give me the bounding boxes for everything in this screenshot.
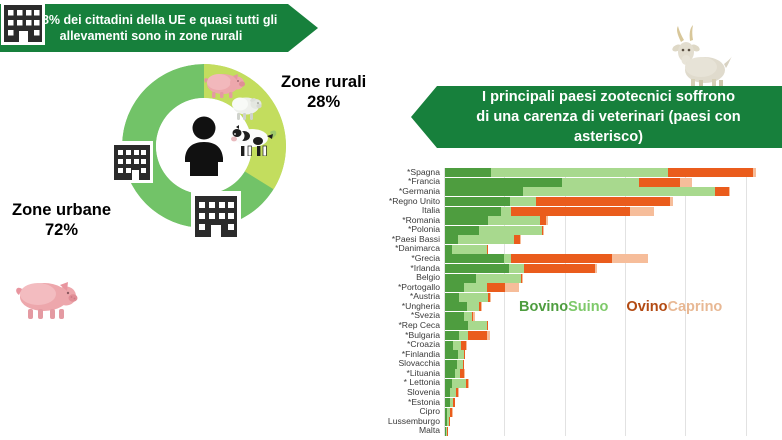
bar-segment-ovino[interactable] [511,207,629,216]
bar-segment-ovino[interactable] [449,417,450,426]
bar-segment-ovino[interactable] [487,245,488,254]
bar-segment-suino[interactable] [450,388,457,397]
rural-label: Zone rurali 28% [281,72,366,112]
pig-icon [14,276,80,320]
bar-segment-ovino[interactable] [668,168,753,177]
bar-segment-ovino[interactable] [639,178,680,187]
bar-segment-bovino[interactable] [445,274,476,283]
category-label: Italia [422,206,440,215]
bar-segment-suino[interactable] [464,283,488,292]
category-label: *Germania [399,187,440,196]
bar-segment-ovino[interactable] [487,321,488,330]
bar-segment-ovino[interactable] [453,398,455,407]
left-banner-line2: allevamenti sono in zone rurali [25,28,278,44]
bar-segment-suino[interactable] [491,168,668,177]
bar-segment-suino[interactable] [453,341,460,350]
bar-segment-suino[interactable] [459,293,488,302]
right-banner-line3: asterisco) [476,127,740,147]
right-banner-line2: di una carenza di veterinari (paesi con [476,107,740,127]
bar-segment-bovino[interactable] [445,331,459,340]
urban-label-value: 72% [12,220,111,240]
bar-segment-bovino[interactable] [445,245,452,254]
bar-segment-suino[interactable] [479,226,542,235]
bar-segment-suino[interactable] [523,187,716,196]
bar-segment-ovino[interactable] [524,264,595,273]
bar-segment-caprino[interactable] [487,331,490,340]
bar-segment-caprino[interactable] [490,293,491,302]
bar-segment-bovino[interactable] [445,379,452,388]
bar-segment-caprino[interactable] [458,388,459,397]
bar-segment-suino[interactable] [464,312,472,321]
bar-segment-suino[interactable] [467,302,479,311]
bar-segment-bovino[interactable] [445,168,491,177]
category-labels-column: *Spagna*Francia*Germania*Regno UnitoItal… [356,168,440,436]
bar-segment-bovino[interactable] [445,341,453,350]
bar-segment-caprino[interactable] [464,369,465,378]
building-icon [190,190,242,242]
bar-segment-bovino[interactable] [445,197,510,206]
bar-segment-suino[interactable] [504,254,511,263]
bar-segment-suino[interactable] [562,178,639,187]
legend-item-bovino: Bovino [519,299,568,315]
bar-segment-ovino[interactable] [511,254,611,263]
bar-segment-caprino[interactable] [753,168,756,177]
legend-item-caprino: Caprino [668,299,723,315]
bar-segment-bovino[interactable] [445,360,457,369]
category-label: *Polonia [408,225,440,234]
bar-segment-suino[interactable] [458,235,514,244]
category-label: Cipro [419,407,440,416]
chart-legend: BovinoSuinoOvinoCaprino [519,299,722,315]
urban-label-text: Zone urbane [12,200,111,220]
category-label: Slovenia [407,388,440,397]
bar-segment-bovino[interactable] [445,350,458,359]
bar-segment-suino[interactable] [510,197,536,206]
legend-item-ovino: Ovino [626,299,667,315]
category-label: Belgio [416,273,440,282]
cow-icon [230,124,278,156]
bar-segment-suino[interactable] [452,379,466,388]
sheep-icon [228,94,264,120]
gridline [746,168,747,436]
bar-segment-bovino[interactable] [445,235,458,244]
bar-segment-suino[interactable] [459,331,467,340]
bar-segment-caprino[interactable] [452,408,453,417]
bar-segment-caprino[interactable] [473,312,474,321]
right-banner: I principali paesi zootecnici soffrono d… [411,86,782,148]
bar-segment-bovino[interactable] [445,321,468,330]
bar-segment-suino[interactable] [501,207,512,216]
bar-segment-suino[interactable] [488,216,540,225]
category-label: *Francia [408,177,440,186]
bar-segment-bovino[interactable] [445,187,523,196]
bar-segment-suino[interactable] [468,321,487,330]
category-label: *Rep Ceca [398,321,440,330]
bar-segment-suino[interactable] [476,274,521,283]
bar-segment-bovino[interactable] [445,264,509,273]
bar-segment-ovino[interactable] [468,331,487,340]
bar-segment-ovino[interactable] [715,187,728,196]
bar-segment-ovino[interactable] [487,283,505,292]
bar-segment-caprino[interactable] [543,226,544,235]
left-banner: Il 28% dei cittadini della UE e quasi tu… [0,4,318,52]
bar-segment-suino[interactable] [452,245,487,254]
bar-segment-caprino[interactable] [522,274,523,283]
bar-segment-suino[interactable] [509,264,524,273]
bar-segment-caprino[interactable] [520,235,521,244]
category-label: *Austria [410,292,440,301]
bar-segment-bovino[interactable] [445,254,504,263]
category-label: Slovacchia [398,359,440,368]
bar-segment-bovino[interactable] [445,293,459,302]
category-label: *Danimarca [395,244,440,253]
category-label: *Croazia [407,340,440,349]
category-label: *Grecia [411,254,440,263]
rural-label-text: Zone rurali [281,72,366,92]
bar-segment-caprino[interactable] [466,341,467,350]
bar-segment-caprino[interactable] [630,207,654,216]
bar-segment-ovino[interactable] [447,427,448,436]
bar-segment-caprino[interactable] [546,216,547,225]
bar-segment-bovino[interactable] [445,207,501,216]
bar-segment-bovino[interactable] [445,216,488,225]
building-icon [110,140,154,184]
bar-segment-caprino[interactable] [729,187,730,196]
bar-segment-caprino[interactable] [505,283,518,292]
bar-segment-caprino[interactable] [612,254,649,263]
bar-segment-ovino[interactable] [464,350,465,359]
bar-segment-bovino[interactable] [445,178,562,187]
bar-segment-bovino[interactable] [445,369,455,378]
bar-segment-ovino[interactable] [536,197,670,206]
building-icon [0,0,46,51]
right-banner-line1: I principali paesi zootecnici soffrono [476,87,740,107]
person-icon [181,116,227,176]
bar-segment-caprino[interactable] [670,197,672,206]
bar-segment-bovino[interactable] [445,302,467,311]
left-banner-line1: Il 28% dei cittadini della UE e quasi tu… [25,12,278,28]
urban-label: Zone urbane 72% [12,200,111,240]
bar-segment-caprino[interactable] [595,264,596,273]
bar-segment-bovino[interactable] [445,312,464,321]
bar-segment-caprino[interactable] [680,178,692,187]
rural-label-value: 28% [281,92,366,112]
bar-segment-ovino[interactable] [463,360,464,369]
legend-item-suino: Suino [568,299,608,315]
category-label: *Svezia [411,311,440,320]
bar-segment-caprino[interactable] [468,379,469,388]
slide-canvas: Il 28% dei cittadini della UE e quasi tu… [0,0,782,440]
category-label: * Lettonia [404,378,440,387]
bar-segment-caprino[interactable] [481,302,482,311]
category-label: Malta [419,426,440,435]
bar-segment-bovino[interactable] [445,283,464,292]
bar-segment-bovino[interactable] [445,226,479,235]
